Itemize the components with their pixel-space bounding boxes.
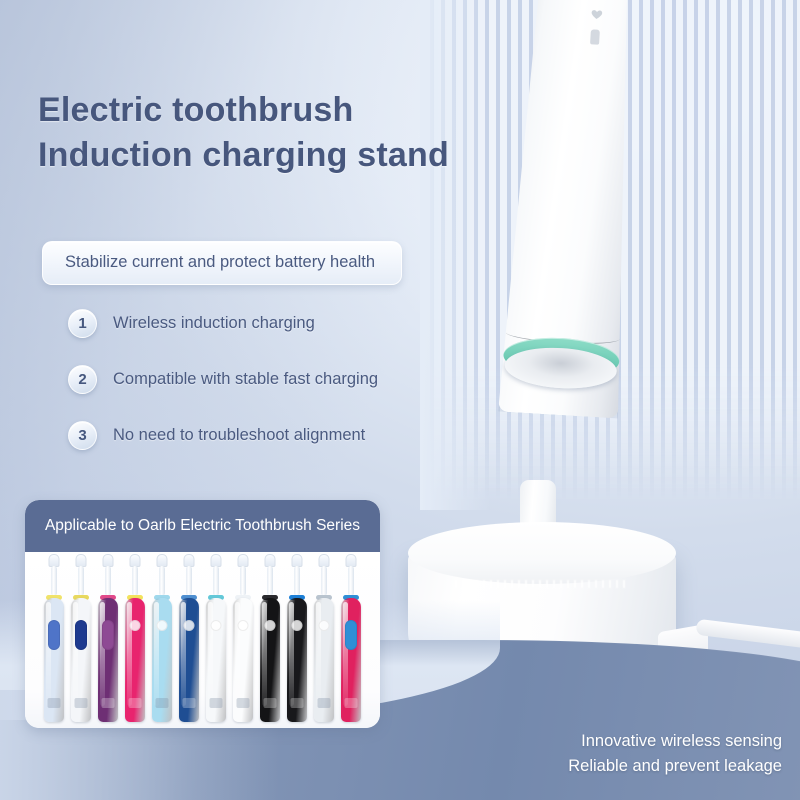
toothbrush-collage — [25, 546, 380, 728]
headline-line-2: Induction charging stand — [38, 133, 558, 178]
brush-handle-body — [260, 598, 280, 722]
brush-gloss — [208, 602, 213, 706]
feature-number-badge: 2 — [68, 365, 97, 394]
poster-canvas: Electric toothbrush Induction charging s… — [0, 0, 800, 800]
brush-gloss — [262, 602, 267, 706]
brush-light-blue — [42, 552, 67, 722]
brush-navy — [177, 552, 202, 722]
charging-base-top — [408, 522, 676, 584]
page-title: Electric toothbrush Induction charging s… — [38, 88, 558, 178]
battery-indicator-icon — [590, 29, 600, 45]
brush-handle-body — [233, 598, 253, 722]
brush-neck — [321, 566, 327, 596]
brush-power-button — [184, 620, 195, 631]
brush-power-button — [48, 620, 60, 650]
brush-gloss — [181, 602, 186, 706]
brush-power-button — [238, 620, 249, 631]
brush-handle-body — [341, 598, 361, 722]
brush-brand-mark — [210, 698, 223, 708]
brush-gloss — [127, 602, 132, 706]
brush-silver-teal — [312, 552, 337, 722]
brush-neck — [78, 566, 84, 596]
brush-cyan — [150, 552, 175, 722]
brush-brand-mark — [183, 698, 196, 708]
brush-black-teal — [285, 552, 310, 722]
brush-power-button — [130, 620, 141, 631]
brush-neck — [213, 566, 219, 596]
charging-base-highlight — [455, 580, 625, 588]
feature-item-1: 1 Wireless induction charging — [68, 309, 488, 337]
brush-brand-mark — [156, 698, 169, 708]
brush-neck — [294, 566, 300, 596]
brush-gloss — [235, 602, 240, 706]
bottom-tagline-line-2: Reliable and prevent leakage — [568, 754, 782, 778]
brush-handle-body — [314, 598, 334, 722]
brush-power-button — [157, 620, 168, 631]
feature-list: 1 Wireless induction charging 2 Compatib… — [68, 309, 488, 477]
brush-neck — [240, 566, 246, 596]
brush-brand-mark — [48, 698, 61, 708]
brush-brand-mark — [129, 698, 142, 708]
brush-power-button — [319, 620, 330, 631]
brush-handle-body — [44, 598, 64, 722]
brush-brand-mark — [75, 698, 88, 708]
brush-pink-blue — [339, 552, 364, 722]
brush-neck — [105, 566, 111, 596]
brush-gloss — [154, 602, 159, 706]
feature-label: Wireless induction charging — [113, 314, 315, 333]
heart-icon — [589, 7, 604, 21]
brush-neck — [186, 566, 192, 596]
brush-gloss — [100, 602, 105, 706]
brush-white-navy — [69, 552, 94, 722]
brush-handle-body — [71, 598, 91, 722]
brush-neck — [132, 566, 138, 596]
brush-neck — [267, 566, 273, 596]
feature-item-3: 3 No need to troubleshoot alignment — [68, 421, 488, 449]
brush-handle-body — [98, 598, 118, 722]
bottom-tagline-line-1: Innovative wireless sensing — [568, 729, 782, 753]
brush-handle-body — [125, 598, 145, 722]
brush-white-plain — [231, 552, 256, 722]
brush-purple — [96, 552, 121, 722]
compatibility-panel-title: Applicable to Oarlb Electric Toothbrush … — [25, 500, 380, 552]
brush-neck — [159, 566, 165, 596]
bottom-tagline: Innovative wireless sensing Reliable and… — [568, 729, 782, 778]
brush-power-button — [75, 620, 87, 650]
brush-handle-body — [287, 598, 307, 722]
brush-power-button — [211, 620, 222, 631]
brush-handle-body — [152, 598, 172, 722]
brush-power-button — [345, 620, 357, 650]
brush-magenta — [123, 552, 148, 722]
feature-label: Compatible with stable fast charging — [113, 370, 378, 389]
brush-brand-mark — [291, 698, 304, 708]
brush-gloss — [343, 602, 348, 706]
feature-item-2: 2 Compatible with stable fast charging — [68, 365, 488, 393]
brush-neck — [51, 566, 57, 596]
brush-black — [258, 552, 283, 722]
brush-power-button — [292, 620, 303, 631]
brush-handle-body — [179, 598, 199, 722]
brush-power-button — [102, 620, 114, 650]
brush-gloss — [289, 602, 294, 706]
headline-line-1: Electric toothbrush — [38, 88, 558, 133]
subtitle-pill: Stabilize current and protect battery he… — [42, 241, 402, 285]
brush-white-teal — [204, 552, 229, 722]
brush-brand-mark — [345, 698, 358, 708]
brush-power-button — [265, 620, 276, 631]
brush-neck — [348, 566, 354, 596]
brush-handle-body — [206, 598, 226, 722]
brush-gloss — [46, 602, 51, 706]
feature-label: No need to troubleshoot alignment — [113, 426, 365, 445]
feature-number-badge: 1 — [68, 309, 97, 338]
brush-gloss — [73, 602, 78, 706]
brush-brand-mark — [237, 698, 250, 708]
compatibility-panel: Applicable to Oarlb Electric Toothbrush … — [25, 500, 380, 728]
brush-gloss — [316, 602, 321, 706]
feature-number-badge: 3 — [68, 421, 97, 450]
brush-brand-mark — [102, 698, 115, 708]
brush-brand-mark — [264, 698, 277, 708]
brush-brand-mark — [318, 698, 331, 708]
